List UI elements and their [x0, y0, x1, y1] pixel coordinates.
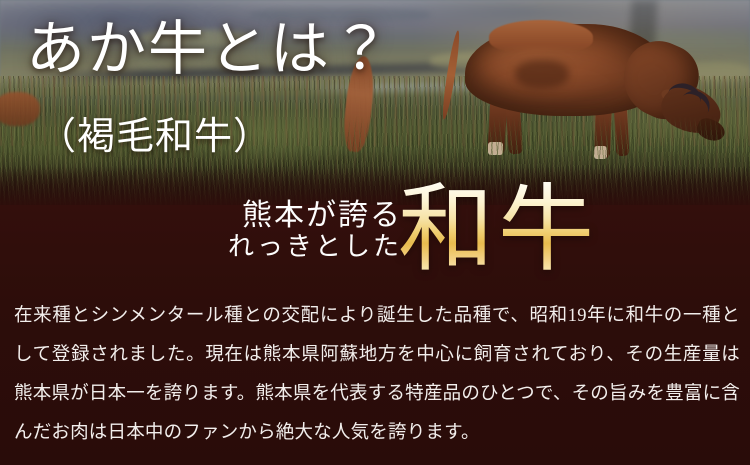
midband-highlight-wagyu: 和牛 [398, 182, 598, 278]
body-copy: 在来種とシンメンタール種との交配により誕生した品種で、昭和19年に和牛の一種とし… [14, 297, 740, 453]
akaushi-info-banner: あか牛とは？ （褐毛和牛） 熊本が誇る れっきとした 和牛 在来種とシンメンター… [0, 0, 750, 465]
page-subtitle: （褐毛和牛） [38, 118, 272, 156]
cow-shadow-patch [515, 60, 569, 88]
midband: 熊本が誇る れっきとした 和牛 [0, 196, 750, 292]
midband-line-1: 熊本が誇る [152, 200, 402, 232]
cow-back-highlight [489, 20, 593, 54]
midband-lead-text: 熊本が誇る れっきとした [152, 200, 402, 262]
midband-line-2: れっきとした [152, 232, 402, 262]
page-title: あか牛とは？ [26, 20, 392, 79]
body-paragraph: 在来種とシンメンタール種との交配により誕生した品種で、昭和19年に和牛の一種とし… [14, 297, 740, 453]
